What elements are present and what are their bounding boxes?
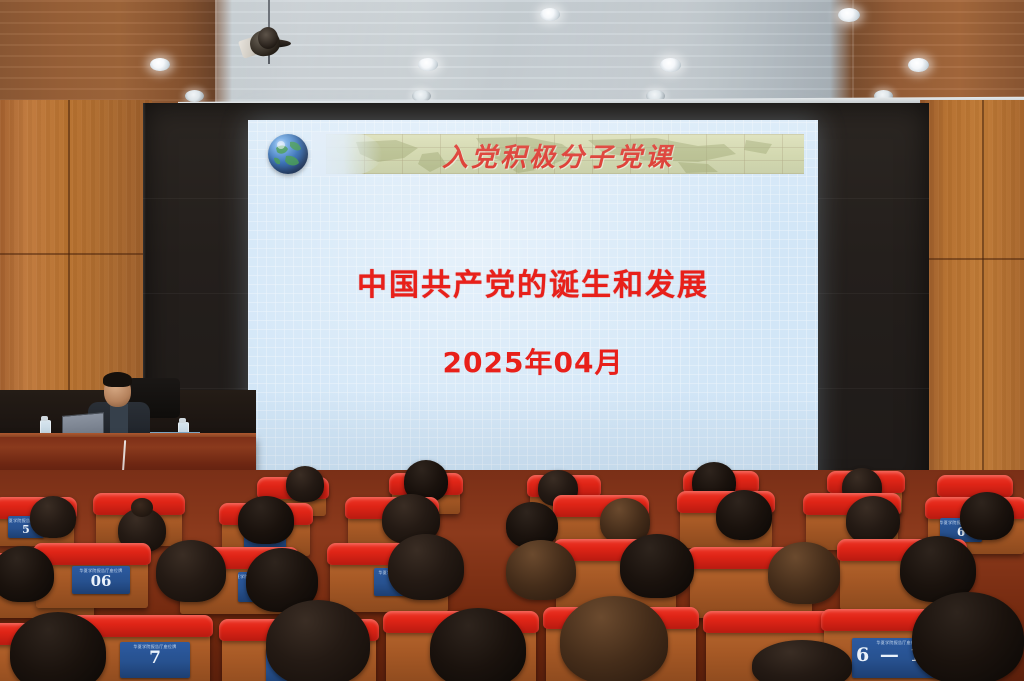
downlight — [150, 58, 170, 71]
audience-head — [846, 496, 900, 544]
downlight — [838, 8, 860, 22]
ceiling-seam — [215, 0, 217, 112]
seat-plate-org: 华夏学院报告厅座位牌 — [80, 568, 123, 574]
downlight — [418, 58, 438, 71]
audience-head — [0, 546, 54, 602]
audience-head — [960, 492, 1014, 540]
ceiling — [0, 0, 1024, 112]
downlight — [540, 8, 560, 21]
screen-vignette — [248, 120, 818, 492]
water-bottle-cap — [179, 418, 186, 423]
audience-head — [286, 466, 324, 502]
audience-head — [388, 534, 464, 600]
ceiling-camera-lens-icon — [258, 27, 278, 49]
seat-plate-org: 华夏学院报告厅座位牌 — [134, 644, 177, 650]
audience-head — [620, 534, 694, 598]
audience-head — [238, 496, 294, 544]
projection-screen: 入党积极分子党课 中国共产党的诞生和发展 2025年04月 — [248, 120, 818, 492]
audience-head — [768, 542, 840, 604]
seat-number: 5 — [22, 524, 30, 535]
downlight — [185, 90, 204, 102]
wall-panel-right — [920, 100, 1024, 520]
audience-head — [156, 540, 226, 602]
panel-seam — [920, 258, 1024, 260]
audience-head — [506, 540, 576, 600]
panel-seam — [0, 253, 152, 255]
seat-number-plate: 华夏学院报告厅座位牌 06 — [72, 566, 130, 594]
audience-head — [30, 496, 76, 538]
seat-number: 06 — [91, 574, 112, 589]
audience-head — [716, 490, 772, 540]
ceiling-sheen — [215, 0, 855, 112]
speaker-hair — [103, 372, 132, 387]
audience-head — [560, 596, 668, 681]
audience-head — [430, 608, 526, 681]
audience-head — [912, 592, 1024, 681]
wood-grain-texture — [920, 100, 1024, 520]
seat-number-plate: 华夏学院报告厅座位牌 7 — [120, 642, 190, 678]
panel-seam — [982, 100, 984, 520]
downlight — [660, 58, 681, 72]
audience-head — [266, 600, 370, 681]
seat-number: 7 — [149, 650, 161, 667]
water-bottle-cap — [41, 416, 48, 421]
downlight — [908, 58, 929, 72]
lecture-hall-photo: 入党积极分子党课 中国共产党的诞生和发展 2025年04月 宋育颖 — [0, 0, 1024, 681]
